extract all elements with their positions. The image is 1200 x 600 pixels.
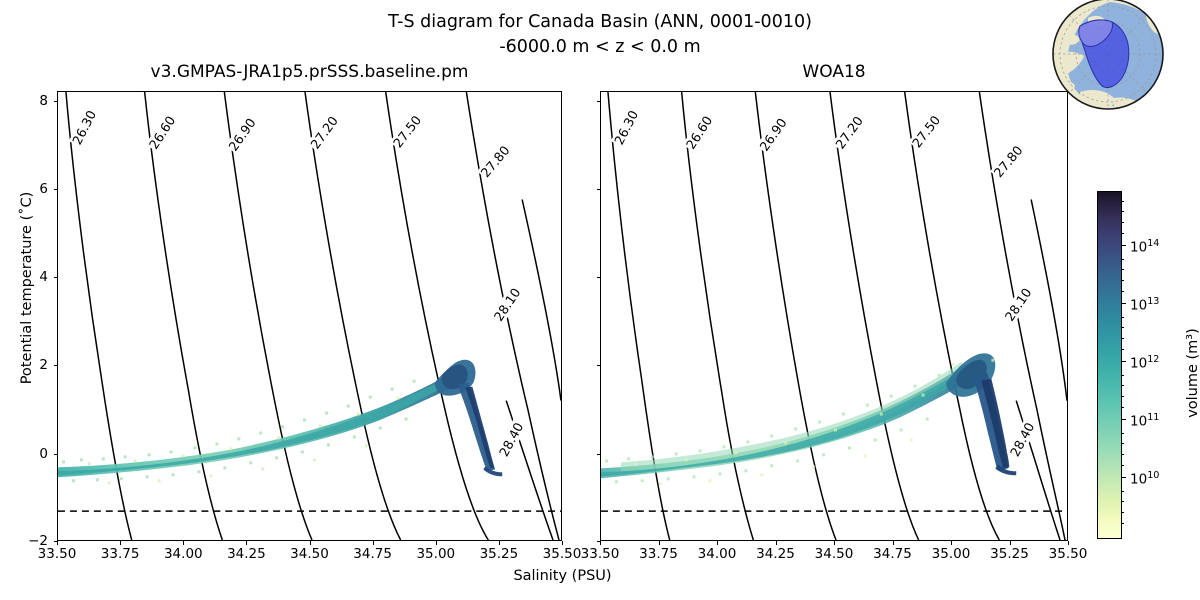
xtick-mark (1068, 541, 1069, 545)
colorbar-axis-label: volume (m³) (1185, 273, 1200, 473)
ytick-label: 0 (8, 446, 48, 462)
plot-axes-model: 26.30 26.60 26.90 27.20 27.50 27.80 28.1… (57, 91, 562, 541)
colorbar-exponent: 14 (1147, 238, 1159, 249)
isopycnal-contours (608, 92, 1067, 540)
ytick-mark (597, 454, 601, 455)
panel-title-model: v3.GMPAS-JRA1p5.prSSS.baseline.pm (57, 60, 562, 84)
xtick-label: 33.50 (570, 546, 630, 562)
woa18-plot-canvas (601, 92, 1067, 540)
xtick-mark (600, 541, 601, 545)
xtick-label: 35.50 (1038, 546, 1098, 562)
colorbar-tick-label: 1013 (1130, 294, 1159, 310)
xtick-label: 34.75 (343, 546, 403, 562)
xtick-label: 33.75 (629, 546, 689, 562)
xtick-mark (310, 541, 311, 545)
xtick-label: 33.75 (90, 546, 150, 562)
xtick-mark (1010, 541, 1011, 545)
xtick-label: 35.00 (406, 546, 466, 562)
xtick-mark (893, 541, 894, 545)
colorbar-tick (1122, 245, 1126, 246)
ts-scatter-woa18 (601, 353, 1016, 485)
colorbar-gradient (1097, 191, 1122, 539)
plot-axes-woa18: 26.30 26.60 26.90 27.20 27.50 27.80 28.1… (600, 91, 1068, 541)
suptitle-line-1: T-S diagram for Canada Basin (ANN, 0001-… (388, 12, 812, 32)
xtick-label: 35.00 (921, 546, 981, 562)
ytick-mark (54, 101, 58, 102)
xtick-mark (659, 541, 660, 545)
ytick-mark (597, 365, 601, 366)
colorbar-exponent: 12 (1147, 354, 1159, 365)
xtick-mark (562, 541, 563, 545)
colorbar-tick (1122, 303, 1126, 304)
ts-scatter-model (58, 360, 502, 484)
ytick-mark (597, 101, 601, 102)
colorbar: 1014 1013 1012 1011 1010 (1097, 191, 1122, 539)
ytick-mark (54, 454, 58, 455)
colorbar-tick (1122, 361, 1126, 362)
xtick-label: 34.00 (153, 546, 213, 562)
xtick-mark (246, 541, 247, 545)
colorbar-tick-label: 1012 (1130, 352, 1159, 368)
ytick-mark (54, 189, 58, 190)
xtick-label: 34.75 (863, 546, 923, 562)
colorbar-tick-label: 1010 (1130, 468, 1159, 484)
ytick-label: 8 (8, 93, 48, 109)
xtick-mark (436, 541, 437, 545)
xtick-mark (776, 541, 777, 545)
xtick-mark (717, 541, 718, 545)
xtick-label: 34.50 (804, 546, 864, 562)
xtick-label: 34.25 (216, 546, 276, 562)
colorbar-exponent: 11 (1147, 412, 1159, 423)
ytick-mark (54, 365, 58, 366)
x-axis-label: Salinity (PSU) (0, 568, 1125, 584)
xtick-mark (499, 541, 500, 545)
arctic-region-globe-inset (1018, 0, 1198, 110)
xtick-label: 34.25 (746, 546, 806, 562)
globe-svg (1018, 0, 1198, 110)
xtick-label: 34.00 (687, 546, 747, 562)
y-axis-label: Potential temperature (˚C) (19, 173, 35, 403)
colorbar-tick-label: 1014 (1130, 236, 1159, 252)
xtick-mark (57, 541, 58, 545)
colorbar-exponent: 10 (1147, 470, 1159, 481)
xtick-label: 34.50 (280, 546, 340, 562)
colorbar-tick-label: 1011 (1130, 410, 1159, 426)
ts-diagram-figure: T-S diagram for Canada Basin (ANN, 0001-… (0, 0, 1200, 600)
xtick-mark (951, 541, 952, 545)
colorbar-exponent: 13 (1147, 296, 1159, 307)
colorbar-tick (1122, 419, 1126, 420)
ytick-mark (54, 277, 58, 278)
xtick-mark (183, 541, 184, 545)
xtick-mark (120, 541, 121, 545)
xtick-mark (834, 541, 835, 545)
ytick-mark (597, 189, 601, 190)
xtick-label: 35.25 (980, 546, 1040, 562)
xtick-label: 35.25 (469, 546, 529, 562)
panel-title-woa18: WOA18 (600, 60, 1068, 84)
xtick-mark (373, 541, 374, 545)
colorbar-tick (1122, 477, 1126, 478)
ytick-mark (597, 277, 601, 278)
xtick-label: 33.50 (27, 546, 87, 562)
